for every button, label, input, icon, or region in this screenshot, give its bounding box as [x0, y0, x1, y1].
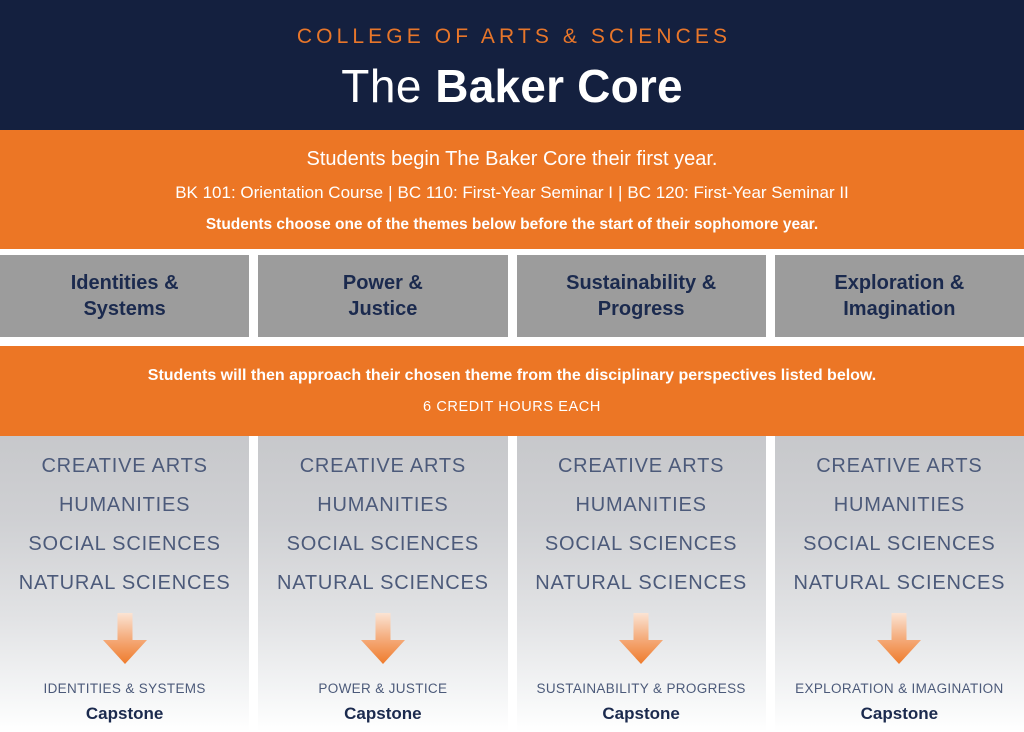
- capstone-word: Capstone: [602, 705, 679, 722]
- perspectives-band: Students will then approach their chosen…: [0, 346, 1024, 436]
- down-arrow-icon: [360, 613, 406, 665]
- discipline-humanities: Humanities: [59, 495, 190, 515]
- discipline-natural-sciences: Natural Sciences: [794, 573, 1006, 593]
- discipline-social-sciences: Social Sciences: [287, 534, 479, 554]
- discipline-creative-arts: Creative Arts: [558, 456, 724, 476]
- theme-card-power-justice[interactable]: Power & Justice: [258, 255, 507, 337]
- discipline-social-sciences: Social Sciences: [28, 534, 220, 554]
- theme-card-label: Sustainability & Progress: [566, 270, 716, 323]
- discipline-humanities: Humanities: [834, 495, 965, 515]
- discipline-column-identities-systems: Creative Arts Humanities Social Sciences…: [0, 436, 249, 732]
- discipline-humanities: Humanities: [317, 495, 448, 515]
- discipline-humanities: Humanities: [575, 495, 706, 515]
- discipline-column-sustainability-progress: Creative Arts Humanities Social Sciences…: [517, 436, 766, 732]
- first-year-statement: Students begin The Baker Core their firs…: [307, 149, 718, 169]
- college-eyebrow: College of Arts & Sciences: [293, 26, 731, 47]
- perspectives-statement: Students will then approach their chosen…: [148, 368, 876, 384]
- discipline-natural-sciences: Natural Sciences: [535, 573, 747, 593]
- theme-choice-statement: Students choose one of the themes below …: [206, 217, 818, 233]
- capstone-theme-label: Exploration & Imagination: [795, 682, 1004, 696]
- course-item: BK 101: Orientation Course: [175, 183, 383, 202]
- capstone-word: Capstone: [344, 705, 421, 722]
- capstone-word: Capstone: [86, 705, 163, 722]
- page-title-light: The: [341, 60, 435, 112]
- down-arrow-icon: [876, 613, 922, 665]
- capstone-theme-label: Identities & Systems: [43, 682, 205, 696]
- theme-card-exploration-imagination[interactable]: Exploration & Imagination: [775, 255, 1024, 337]
- capstone-theme-label: Sustainability & Progress: [536, 682, 745, 696]
- theme-card-label: Identities & Systems: [71, 270, 179, 323]
- theme-card-label: Exploration & Imagination: [834, 270, 964, 323]
- discipline-natural-sciences: Natural Sciences: [277, 573, 489, 593]
- discipline-social-sciences: Social Sciences: [803, 534, 995, 554]
- header-banner: College of Arts & Sciences The Baker Cor…: [0, 0, 1024, 130]
- discipline-creative-arts: Creative Arts: [300, 456, 466, 476]
- discipline-social-sciences: Social Sciences: [545, 534, 737, 554]
- capstone-word: Capstone: [861, 705, 938, 722]
- page-title: The Baker Core: [341, 63, 683, 109]
- discipline-creative-arts: Creative Arts: [41, 456, 207, 476]
- course-separator: |: [383, 183, 397, 202]
- down-arrow-icon: [618, 613, 664, 665]
- discipline-creative-arts: Creative Arts: [816, 456, 982, 476]
- discipline-column-power-justice: Creative Arts Humanities Social Sciences…: [258, 436, 507, 732]
- first-year-course-list: BK 101: Orientation Course|BC 110: First…: [175, 184, 849, 201]
- course-separator: |: [613, 183, 627, 202]
- course-item: BC 120: First-Year Seminar II: [627, 183, 848, 202]
- credit-hours-note: 6 Credit Hours Each: [423, 400, 601, 415]
- down-arrow-icon: [102, 613, 148, 665]
- theme-card-label: Power & Justice: [343, 270, 423, 323]
- discipline-columns-row: Creative Arts Humanities Social Sciences…: [0, 436, 1024, 732]
- course-item: BC 110: First-Year Seminar I: [398, 183, 613, 202]
- capstone-theme-label: Power & Justice: [318, 682, 447, 696]
- discipline-natural-sciences: Natural Sciences: [19, 573, 231, 593]
- first-year-band: Students begin The Baker Core their firs…: [0, 130, 1024, 249]
- themes-row: Identities & Systems Power & Justice Sus…: [0, 249, 1024, 346]
- baker-core-infographic: College of Arts & Sciences The Baker Cor…: [0, 0, 1024, 732]
- discipline-column-exploration-imagination: Creative Arts Humanities Social Sciences…: [775, 436, 1024, 732]
- theme-card-identities-systems[interactable]: Identities & Systems: [0, 255, 249, 337]
- theme-card-sustainability-progress[interactable]: Sustainability & Progress: [517, 255, 766, 337]
- page-title-bold: Baker Core: [435, 60, 682, 112]
